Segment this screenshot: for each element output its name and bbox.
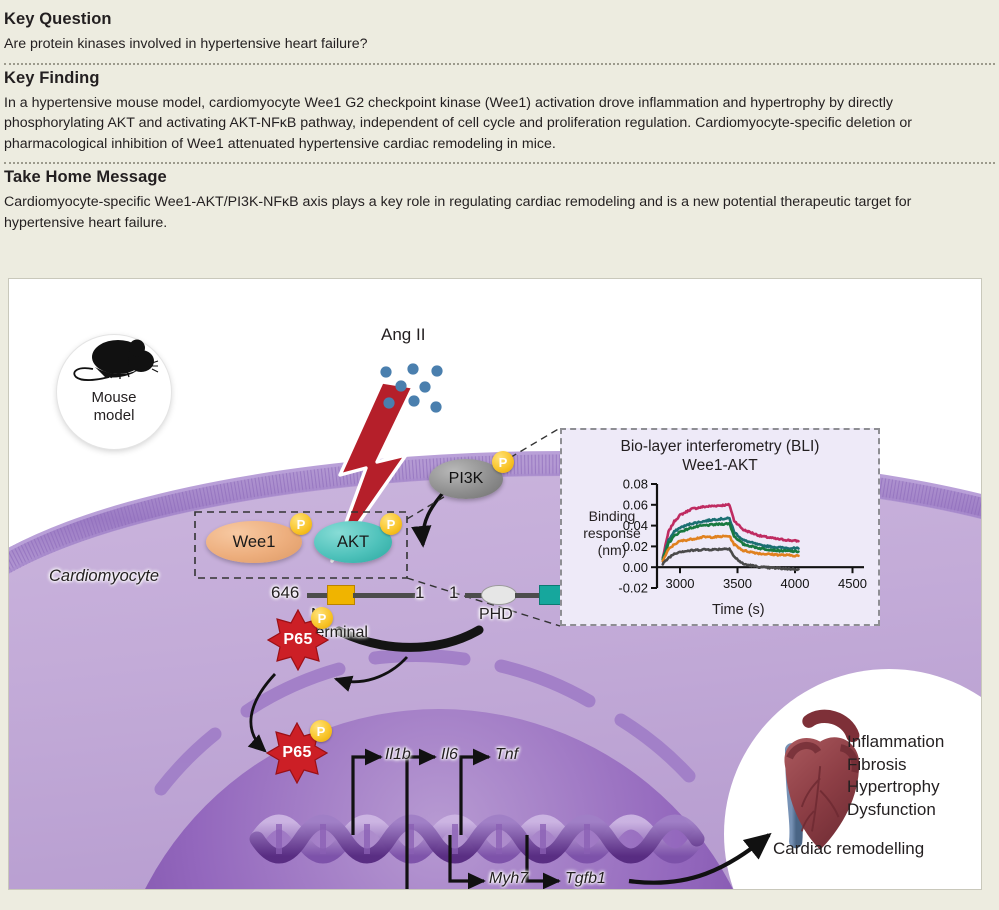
outcome-item: Dysfunction — [847, 799, 944, 822]
svg-text:3500: 3500 — [723, 576, 752, 591]
domain-right-name: PHD — [479, 606, 513, 624]
domain-right-start: 1 — [449, 583, 458, 603]
cardiomyocyte-label: Cardiomyocyte — [49, 567, 159, 586]
outcome-list: Inflammation Fibrosis Hypertrophy Dysfun… — [847, 731, 944, 821]
bli-chart-title: Bio-layer interferometry (BLI) — [562, 438, 878, 457]
domain-phd-oval — [481, 585, 517, 605]
section-body-key-question: Are protein kinases involved in hyperten… — [4, 34, 989, 55]
svg-text:3000: 3000 — [666, 576, 695, 591]
section-heading-key-finding: Key Finding — [4, 69, 995, 88]
bli-x-axis-label: Time (s) — [712, 602, 765, 618]
outcome-item: Inflammation — [847, 731, 944, 754]
protein-node-wee1[interactable]: Wee1 — [206, 521, 302, 563]
protein-label-pi3k: PI3K — [449, 470, 484, 488]
outcome-item: Fibrosis — [847, 754, 944, 777]
gene-label-tnf: Tnf — [495, 746, 518, 764]
mouse-model-label: Mouse model — [57, 389, 171, 425]
domain-left-start: 646 — [271, 583, 299, 603]
phospho-badge-p65-cytoplasm: P — [311, 607, 333, 629]
mouse-model-badge: Mouse model — [57, 335, 171, 449]
svg-text:0.08: 0.08 — [623, 478, 648, 492]
ang-ii-label: Ang II — [381, 325, 425, 345]
protein-label-akt: AKT — [337, 533, 369, 552]
gene-label-tgfb1: Tgfb1 — [565, 870, 606, 888]
summary-block-key-question: Key Question Are protein kinases involve… — [4, 10, 995, 55]
domain-left-end: 1 — [415, 583, 424, 603]
svg-text:0.00: 0.00 — [623, 560, 648, 575]
svg-text:0.06: 0.06 — [623, 497, 648, 512]
divider-1 — [4, 63, 995, 65]
summary-section: Key Question Are protein kinases involve… — [0, 0, 999, 234]
gene-label-il6: Il6 — [441, 746, 458, 764]
section-heading-key-question: Key Question — [4, 10, 995, 29]
svg-text:-0.02: -0.02 — [618, 581, 648, 596]
outcome-item: Hypertrophy — [847, 776, 944, 799]
bli-inset-panel: Bio-layer interferometry (BLI) Wee1-AKT … — [560, 428, 880, 626]
svg-text:0.04: 0.04 — [623, 518, 648, 533]
phospho-badge-akt: P — [380, 513, 402, 535]
summary-block-key-finding: Key Finding In a hypertensive mouse mode… — [4, 69, 995, 155]
gene-label-myh7: Myh7 — [489, 870, 528, 888]
svg-text:4500: 4500 — [838, 576, 867, 591]
bli-chart-subtitle: Wee1-AKT — [562, 457, 878, 475]
figure-panel: Mouse model Ang II Cardiomyocyte PI3K P … — [8, 278, 982, 890]
section-body-key-finding: In a hypertensive mouse model, cardiomyo… — [4, 93, 989, 155]
phospho-badge-p65-nucleus: P — [310, 720, 332, 742]
domain-left-box — [327, 585, 355, 605]
domain-left-line-a — [307, 593, 329, 598]
p65-cytoplasm[interactable]: P65 P — [267, 609, 329, 671]
section-heading-take-home-message: Take Home Message — [4, 168, 995, 187]
phospho-badge-pi3k: P — [492, 451, 514, 473]
domain-right-line-b — [515, 593, 541, 598]
summary-block-take-home-message: Take Home Message Cardiomyocyte-specific… — [4, 168, 995, 233]
cardiac-remodelling-caption: Cardiac remodelling — [773, 839, 924, 859]
p65-nucleus[interactable]: P65 P — [266, 722, 328, 784]
domain-left-line-b — [353, 593, 415, 598]
section-body-take-home-message: Cardiomyocyte-specific Wee1-AKT/PI3K-NFκ… — [4, 192, 989, 233]
protein-label-wee1: Wee1 — [233, 533, 276, 552]
svg-text:4000: 4000 — [781, 576, 810, 591]
svg-text:0.02: 0.02 — [623, 539, 648, 554]
mouse-icon — [57, 335, 171, 395]
gene-label-il1b: Il1b — [385, 746, 411, 764]
divider-2 — [4, 162, 995, 164]
phospho-badge-wee1: P — [290, 513, 312, 535]
